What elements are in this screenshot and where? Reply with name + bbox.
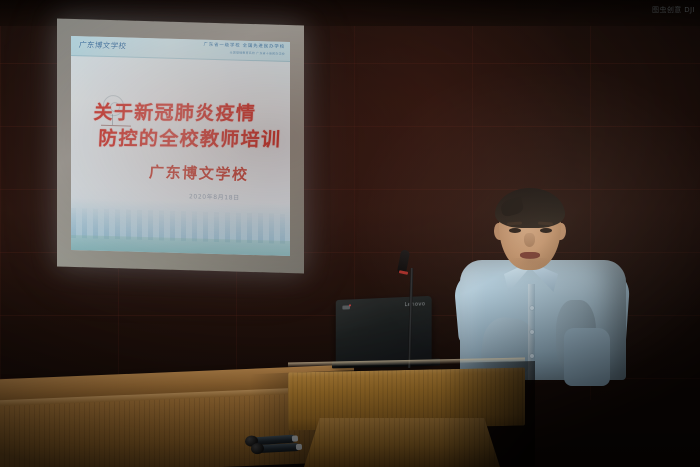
photo-scene: 广东博文学校 广东省一级学校 全国先进民办学校 全国基础教育名校 广东省十佳民办…: [0, 0, 700, 467]
image-vignette: [0, 0, 700, 467]
watermark-text: 图虫创意 DJI: [652, 5, 695, 15]
